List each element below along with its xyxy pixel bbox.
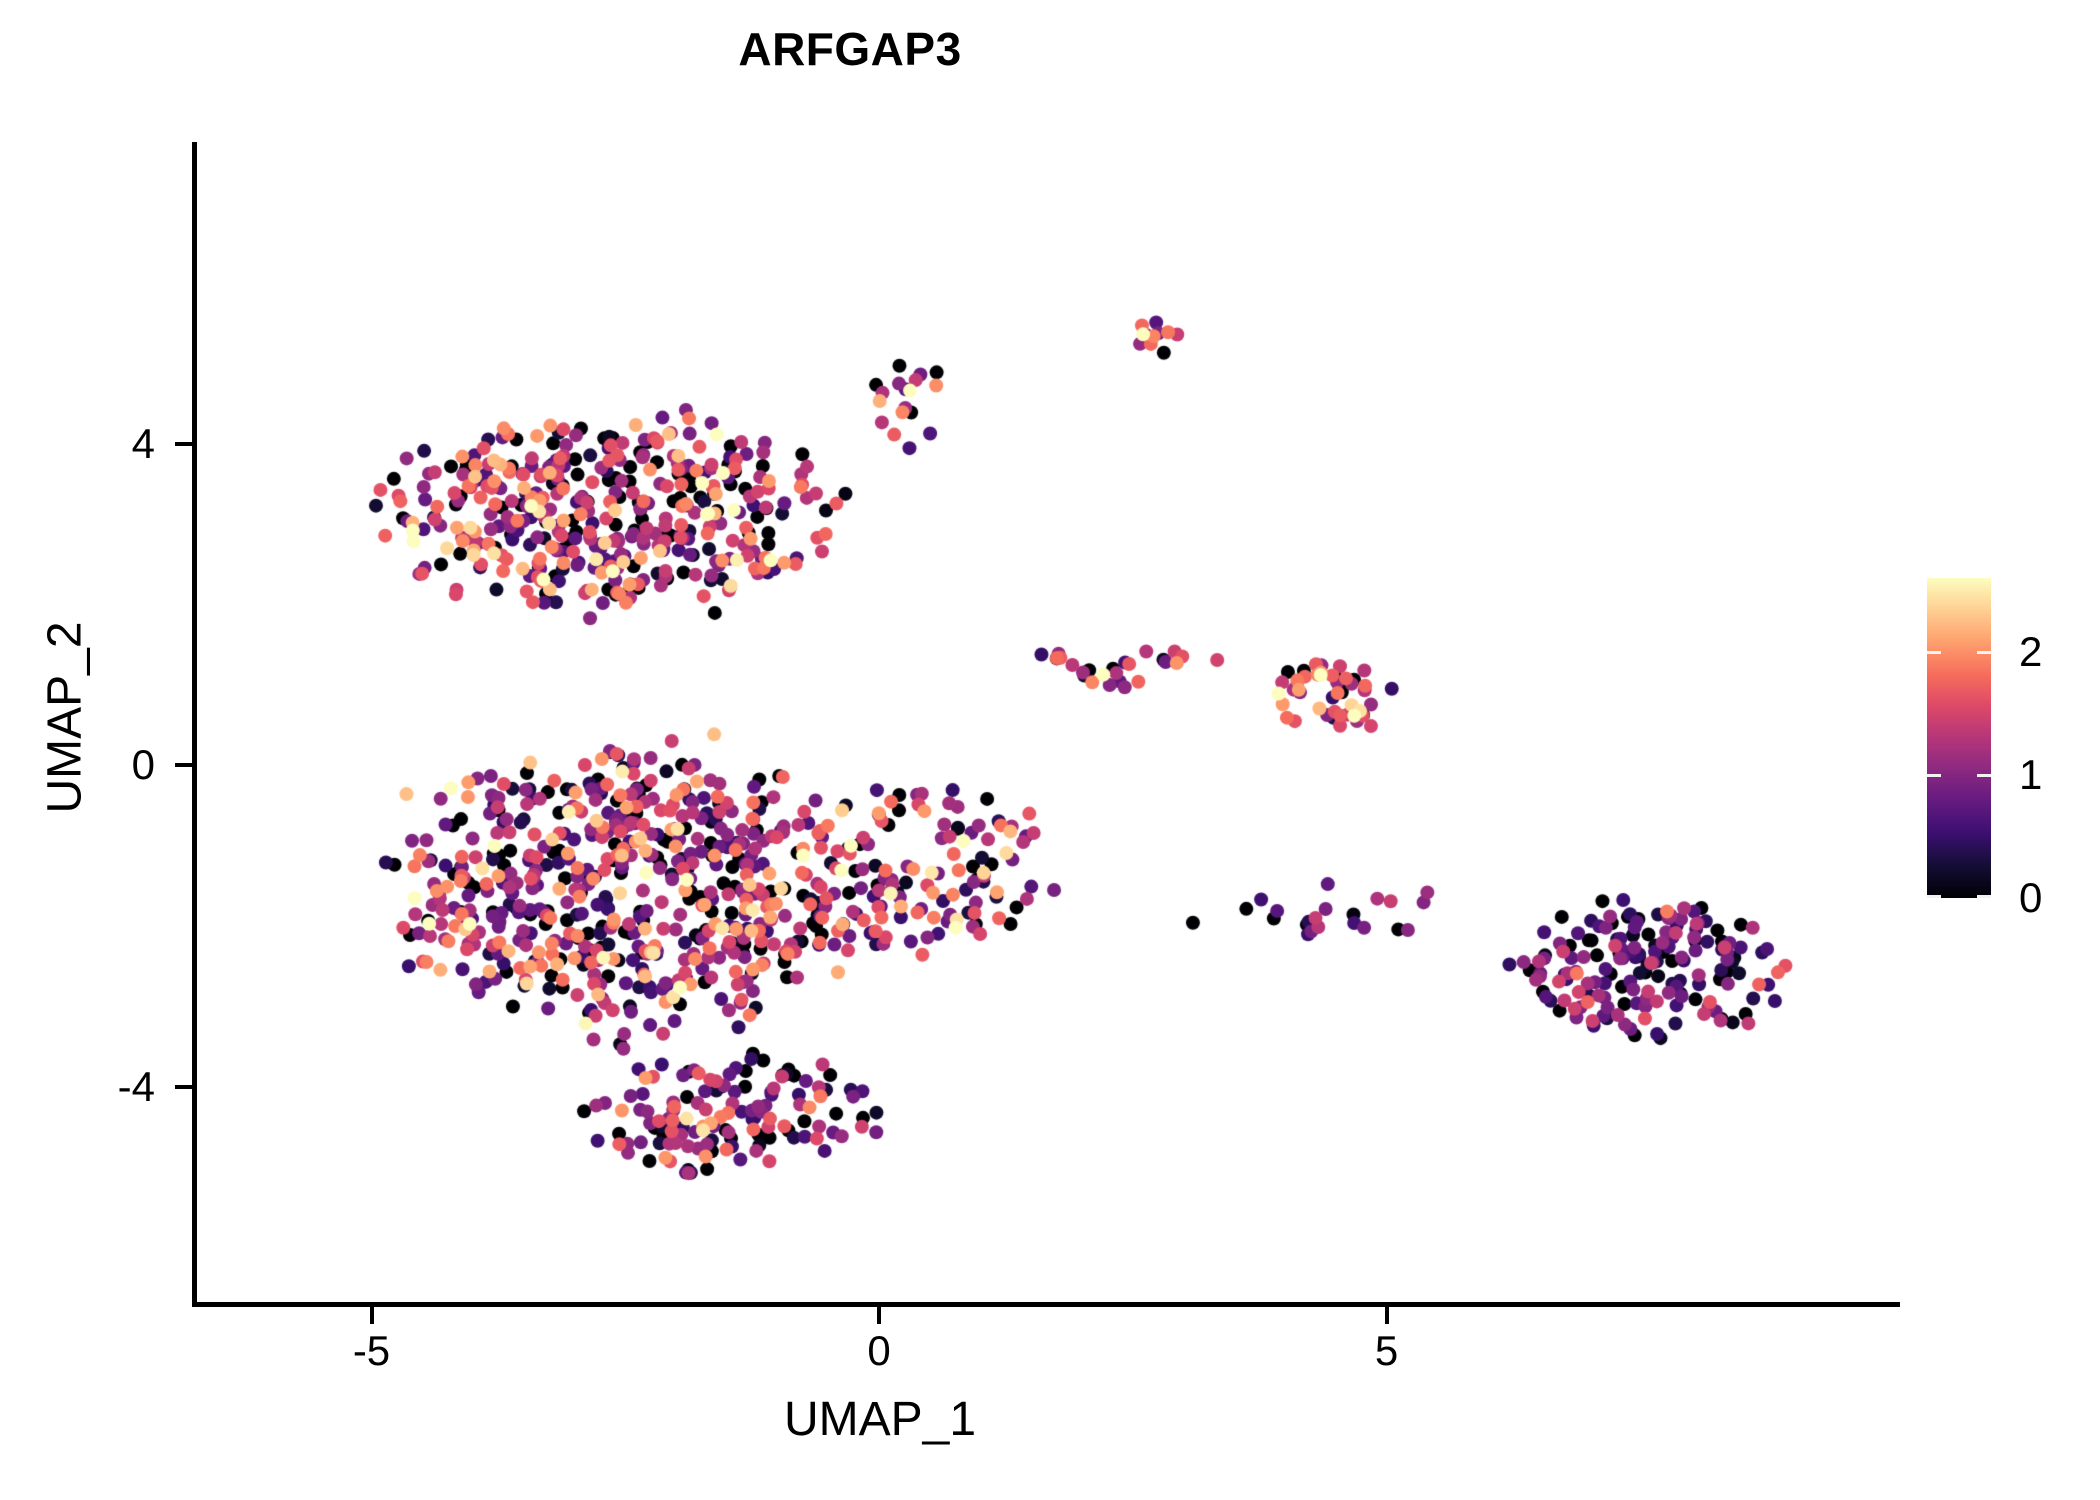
x-tick-mark (1385, 1307, 1389, 1324)
colorbar-tick-label: 0 (2019, 877, 2100, 919)
scatter-plot-canvas (195, 142, 1900, 1302)
colorbar-tick-label: 1 (2019, 754, 2100, 796)
x-tick-label: 5 (1317, 1330, 1457, 1372)
colorbar-tick-mark (1927, 651, 1941, 654)
colorbar-tick-mark (1927, 895, 1941, 898)
colorbar-gradient (1927, 578, 1991, 898)
y-tick-mark (175, 1085, 192, 1089)
x-axis-title: UMAP_1 (595, 1392, 1165, 1447)
y-axis-line (192, 142, 197, 1306)
colorbar-tick-mark (1927, 774, 1941, 777)
x-tick-label: 0 (809, 1330, 949, 1372)
y-tick-mark (175, 763, 192, 767)
colorbar-tick-label: 2 (2019, 631, 2100, 673)
x-axis-line (192, 1302, 1900, 1307)
y-tick-mark (175, 442, 192, 446)
colorbar-tick-mark (1977, 651, 1991, 654)
colorbar-tick-mark (1977, 895, 1991, 898)
figure-root: ARFGAP3 40-4 -505 UMAP_1 UMAP_2 210 (0, 0, 2100, 1500)
colorbar-tick-mark (1977, 774, 1991, 777)
x-tick-mark (877, 1307, 881, 1324)
y-tick-label: -4 (35, 1066, 155, 1108)
colorbar-legend: 210 (1927, 578, 2097, 900)
plot-panel (195, 142, 1900, 1302)
y-axis-title: UMAP_2 (38, 433, 93, 1003)
x-tick-mark (370, 1307, 374, 1324)
x-tick-label: -5 (302, 1330, 442, 1372)
page-title: ARFGAP3 (0, 22, 1700, 76)
